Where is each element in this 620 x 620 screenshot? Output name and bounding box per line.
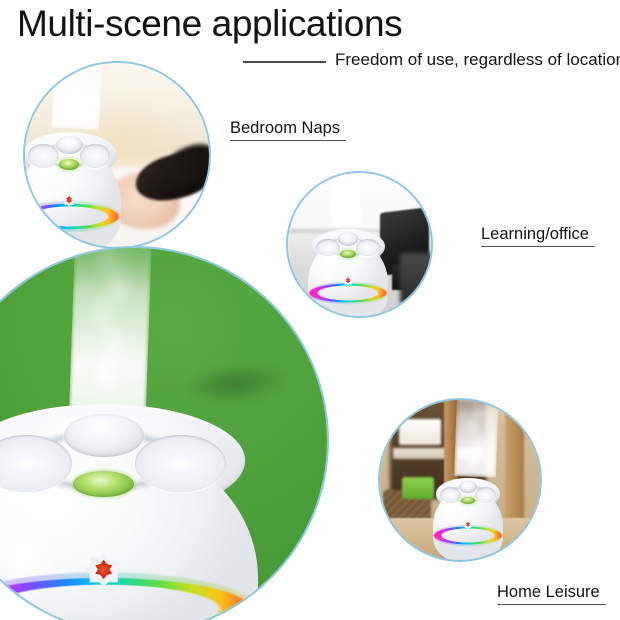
humidifier-nozzle: [459, 481, 477, 493]
hero-product-circle: [0, 248, 327, 620]
humidifier-nozzle: [56, 136, 83, 154]
humidifier-vent-light: [461, 497, 475, 504]
office-dark-object: [400, 253, 431, 304]
scene-circle-home: [380, 400, 540, 560]
caption-underline: [481, 246, 595, 248]
bedroom-photo: [25, 63, 209, 247]
product-feature-graphic: Multi-scene applications Freedom of use,…: [0, 0, 620, 620]
humidifier-rgb-ring: [432, 526, 504, 545]
home-shelf-items: [399, 419, 441, 445]
humidifier-nozzle: [338, 232, 359, 245]
caption-underline: [230, 140, 346, 142]
humidifier-vent-light: [59, 159, 80, 170]
page-subtitle: Freedom of use, regardless of location: [335, 48, 620, 72]
scene-circle-bedroom: [25, 63, 209, 247]
mist-column: [454, 400, 499, 478]
humidifier-rgb-ring: [25, 203, 122, 230]
caption-office-label: Learning/office: [481, 225, 589, 243]
caption-underline: [497, 604, 606, 606]
caption-home-label: Home Leisure: [497, 583, 600, 601]
hero-photo: [0, 248, 327, 620]
humidifier-nozzle: [64, 414, 144, 457]
caption-home: Home Leisure: [497, 583, 600, 605]
home-photo: [380, 400, 540, 560]
home-green-item: [402, 477, 434, 499]
humidifier-bedroom: [25, 118, 121, 247]
subtitle-rule: [243, 61, 326, 63]
home-wood-post-right: [505, 400, 524, 522]
mist-plume: [454, 400, 499, 478]
humidifier-vent-light: [340, 250, 356, 258]
caption-office: Learning/office: [481, 225, 589, 247]
page-title: Multi-scene applications: [17, 2, 402, 46]
humidifier-vent-light: [73, 471, 135, 497]
caption-bedroom: Bedroom Naps: [230, 119, 340, 141]
caption-bedroom-label: Bedroom Naps: [230, 119, 340, 137]
humidifier-hero: [0, 371, 258, 620]
humidifier-home: [433, 469, 503, 560]
